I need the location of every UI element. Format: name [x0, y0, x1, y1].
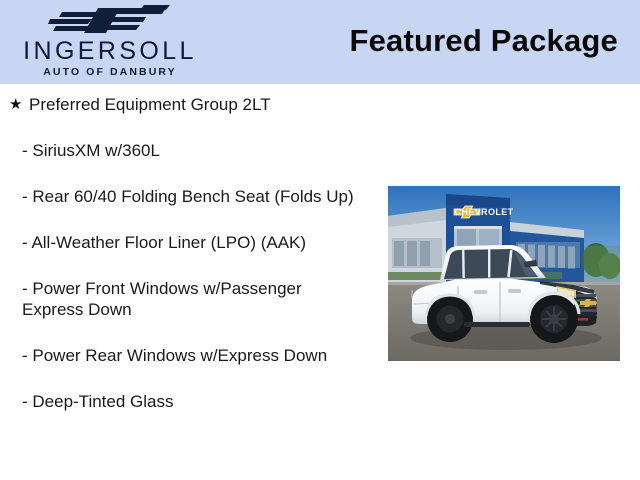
- content-area: ★ Preferred Equipment Group 2LT - Sirius…: [0, 84, 640, 480]
- list-item-label: - Deep-Tinted Glass: [22, 392, 173, 411]
- list-item: - SiriusXM w/360L: [0, 140, 362, 161]
- brand-tagline: AUTO OF DANBURY: [10, 66, 210, 78]
- list-item-label: - Power Front Windows w/Passenger Expres…: [22, 279, 302, 319]
- list-item: - Deep-Tinted Glass: [0, 391, 362, 412]
- list-item-label: - Power Rear Windows w/Express Down: [22, 346, 327, 365]
- list-item-label: - SiriusXM w/360L: [22, 141, 160, 160]
- list-item-label: Preferred Equipment Group 2LT: [29, 95, 271, 114]
- list-item: - Power Rear Windows w/Express Down: [0, 345, 362, 366]
- vehicle-photo: CHEVROLET: [388, 186, 620, 361]
- star-bullet-icon: ★: [9, 94, 22, 115]
- page-title: Featured Package: [349, 23, 618, 59]
- list-item: - Power Front Windows w/Passenger Expres…: [0, 278, 362, 320]
- list-item: ★ Preferred Equipment Group 2LT: [0, 94, 380, 115]
- list-item: - Rear 60/40 Folding Bench Seat (Folds U…: [0, 186, 362, 207]
- dealership-branding: INGERSOLL AUTO OF DANBURY: [0, 0, 220, 84]
- list-item: - All-Weather Floor Liner (LPO) (AAK): [0, 232, 362, 253]
- list-item-label: - All-Weather Floor Liner (LPO) (AAK): [22, 233, 306, 252]
- page-header: INGERSOLL AUTO OF DANBURY Featured Packa…: [0, 0, 640, 84]
- feature-list: ★ Preferred Equipment Group 2LT - Sirius…: [0, 84, 380, 412]
- list-item-label: - Rear 60/40 Folding Bench Seat (Folds U…: [22, 187, 354, 206]
- svg-text:CHEVROLET: CHEVROLET: [454, 207, 513, 217]
- brand-name: INGERSOLL: [10, 38, 210, 64]
- ingersoll-wing-emblem-icon: [48, 3, 172, 37]
